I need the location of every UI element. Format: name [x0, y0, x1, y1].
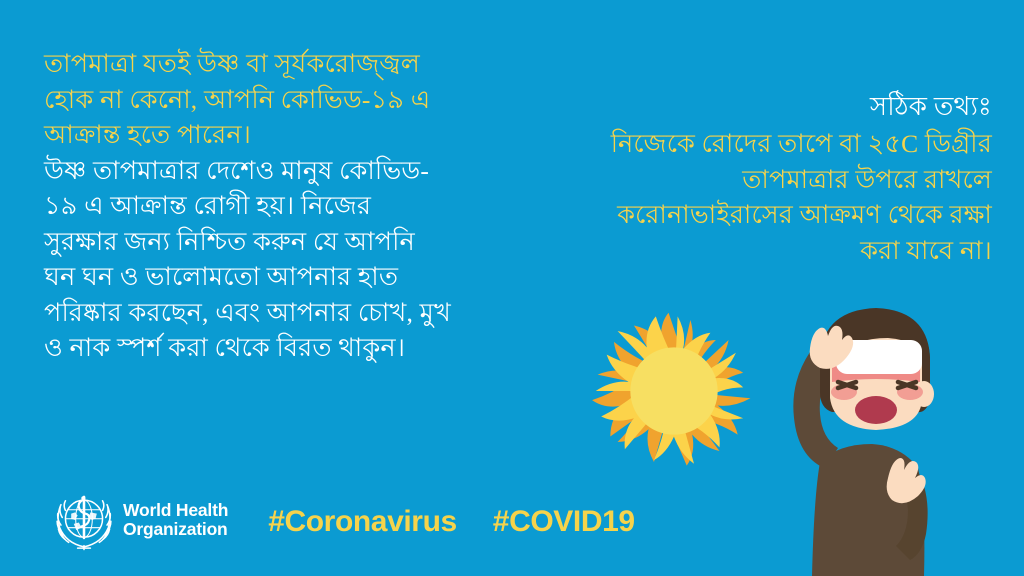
- myth-white-line-1: উষ্ণ তাপমাত্রার দেশেও মানুষ কোভিড-: [44, 153, 514, 189]
- hashtag-coronavirus: #Coronavirus: [268, 505, 457, 539]
- poster-canvas: তাপমাত্রা যতই উষ্ণ বা সূর্যকরোজ্জ্বল হোক…: [0, 0, 1024, 576]
- person-eye-left: [838, 382, 856, 388]
- fact-line-1: নিজেকে রোদের তাপে বা ২৫C ডিগ্রীর: [522, 126, 992, 162]
- myth-white-line-3: সুরক্ষার জন্য নিশ্চিত করুন যে আপনি: [44, 224, 514, 260]
- footer-bar: World Health Organization #Coronavirus #…: [52, 488, 635, 552]
- sun-core: [630, 347, 717, 434]
- myth-text-block: তাপমাত্রা যতই উষ্ণ বা সূর্যকরোজ্জ্বল হোক…: [44, 46, 514, 366]
- myth-yellow-line-2: হোক না কেনো, আপনি কোভিড-১৯ এ: [44, 82, 514, 118]
- myth-white-line-6: ও নাক স্পর্শ করা থেকে বিরত থাকুন।: [44, 330, 514, 366]
- sick-person-illustration: [776, 296, 976, 576]
- fact-line-2: তাপমাত্রার উপরে রাখলে: [522, 162, 992, 198]
- myth-white-line-4: ঘন ঘন ও ভালোমতো আপনার হাত: [44, 259, 514, 295]
- hashtag-covid19: #COVID19: [493, 505, 635, 539]
- person-eye-right: [898, 382, 916, 388]
- person-mouth: [855, 396, 897, 424]
- fact-heading: সঠিক তথ্যঃ: [522, 88, 992, 126]
- myth-white-line-2: ১৯ এ আক্রান্ত রোগী হয়। নিজের: [44, 188, 514, 224]
- myth-yellow-line-3: আক্রান্ত হতে পারেন।: [44, 117, 514, 153]
- fact-line-4: করা যাবে না।: [522, 233, 992, 269]
- sun-illustration: [583, 300, 765, 482]
- hashtag-group: #Coronavirus #COVID19: [268, 505, 634, 539]
- myth-white-line-5: পরিষ্কার করছেন, এবং আপনার চোখ, মুখ: [44, 295, 514, 331]
- who-wordmark-line2: Organization: [123, 520, 228, 539]
- fact-line-3: করোনাভাইরাসের আক্রমণ থেকে রক্ষা: [522, 197, 992, 233]
- myth-yellow-line-1: তাপমাত্রা যতই উষ্ণ বা সূর্যকরোজ্জ্বল: [44, 46, 514, 82]
- fact-text-block: সঠিক তথ্যঃ নিজেকে রোদের তাপে বা ২৫C ডিগ্…: [522, 88, 992, 268]
- who-wordmark-line1: World Health: [123, 501, 228, 520]
- who-wordmark: World Health Organization: [123, 501, 228, 539]
- who-emblem: [52, 488, 116, 552]
